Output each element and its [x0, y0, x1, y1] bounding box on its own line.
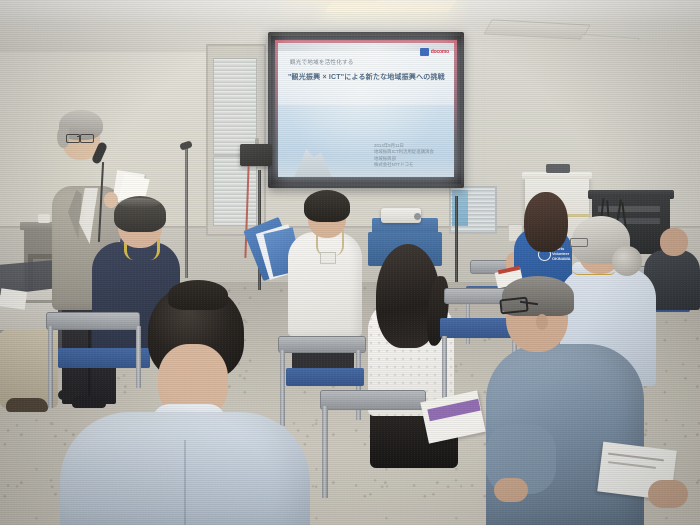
chair-seat[interactable]: [286, 368, 364, 386]
attendee-navy-shirt-hair-highlight: [118, 198, 160, 208]
door-blinds: [213, 58, 257, 226]
chair-back: [278, 336, 366, 353]
attendee-gray-bun-glasses: [570, 238, 588, 247]
presenter-shoe-right: [72, 396, 106, 408]
presenter-glasses-bridge: [77, 136, 81, 137]
projected-slide: 観光で地域を活性化する "観光振興 × ICT"による新たな地域振興への挑戦 2…: [278, 43, 454, 177]
speaker-stand-pole-2: [455, 196, 458, 282]
attendee-reading-glasses: [499, 297, 528, 315]
projection-screen: 観光で地域を活性化する "観光振興 × ICT"による新たな地域振興への挑戦 2…: [268, 32, 464, 188]
attendee-navy-shirt-shoe: [6, 398, 48, 412]
attendee-foreground-shirt-seam: [184, 440, 186, 525]
podium-top: [522, 172, 592, 179]
attendee-back-row-head: [660, 228, 688, 256]
chair-leg: [322, 406, 328, 498]
docomo-logo-mark-icon: [420, 48, 429, 56]
attendee-reading-ear: [536, 314, 548, 330]
attendee-blue-tshirt-hair: [524, 192, 568, 252]
desk-item[interactable]: [38, 214, 50, 223]
chair-leg: [136, 326, 141, 388]
paper-on-stack: [0, 288, 27, 309]
slide-title: "観光振興 × ICT"による新たな地域振興への挑戦: [288, 72, 445, 82]
slide-logo: docomo: [420, 48, 449, 56]
chair-back: [320, 390, 426, 410]
microphone-stand: [185, 146, 188, 278]
tshirt-logo-line2: OKINAWA: [552, 256, 576, 261]
chair-back: [46, 312, 140, 330]
attendee-white-shirt-hair: [304, 190, 350, 222]
chair-leg: [280, 350, 285, 426]
pa-speaker: [240, 144, 272, 166]
presenter-glasses-right-lens: [80, 134, 94, 143]
chair-leg: [48, 326, 53, 408]
slide-meta-line: 株式会社NTTドコモ: [374, 162, 448, 168]
slide-logo-text: docomo: [431, 49, 449, 55]
chair-leg: [442, 336, 447, 398]
slide-meta-block: 2014年9月11日 地域振興ICT利活用促進講演会 地域振興部 株式会社NTT…: [374, 143, 448, 169]
attendee-foreground-hair-top: [168, 280, 228, 310]
door[interactable]: [206, 44, 266, 236]
podium-microphone: [546, 164, 570, 173]
chair-seat[interactable]: [440, 318, 516, 338]
seminar-room-photo: 観光で地域を活性化する "観光振興 × ICT"による新たな地域振興への挑戦 2…: [0, 0, 700, 525]
attendee-gray-bun-hairbun: [612, 246, 642, 276]
slide-heading: 観光で地域を活性化する: [290, 58, 354, 66]
attendee-hand-holding-document: [648, 480, 688, 508]
attendee-white-shirt-badge: [320, 252, 336, 264]
ceiling-light-fixture-2: [287, 0, 387, 2]
projector-lens-icon: [414, 213, 421, 220]
attendee-reading-hand: [494, 478, 528, 502]
